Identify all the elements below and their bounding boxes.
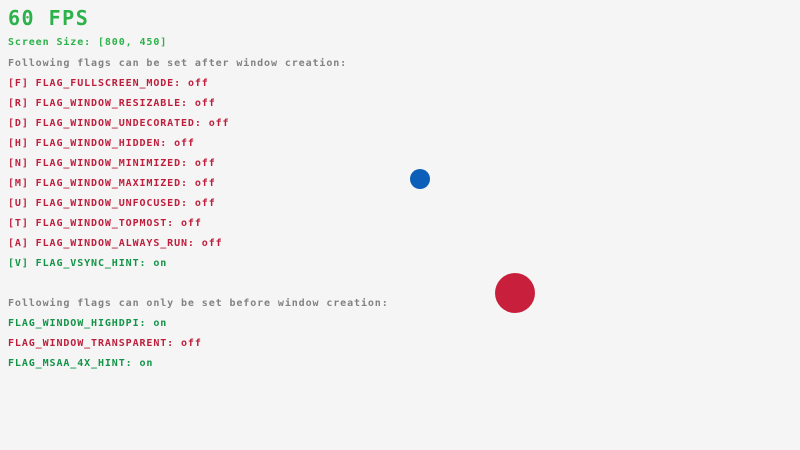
flag-label: [F] FLAG_FULLSCREEN_MODE: [8,78,188,89]
small-blue-ball [410,169,430,189]
flag-label: FLAG_WINDOW_TRANSPARENT: [8,338,181,349]
flag-state: off [202,238,223,249]
flag-label: [T] FLAG_WINDOW_TOPMOST: [8,218,181,229]
flag-state: off [195,198,216,209]
flag-label: FLAG_WINDOW_HIGHDPI: [8,318,153,329]
flag-label: [N] FLAG_WINDOW_MINIMIZED: [8,158,195,169]
flag-state: off [209,118,230,129]
flag-row[interactable]: [M] FLAG_WINDOW_MAXIMIZED: off [8,179,216,189]
flag-state: off [188,78,209,89]
flag-row[interactable]: [A] FLAG_WINDOW_ALWAYS_RUN: off [8,239,223,249]
flag-state: off [174,138,195,149]
creation-flags-header: Following flags can only be set before w… [8,299,389,309]
flag-row[interactable]: [T] FLAG_WINDOW_TOPMOST: off [8,219,202,229]
flag-label: [V] FLAG_VSYNC_HINT: [8,258,153,269]
flag-row[interactable]: FLAG_WINDOW_TRANSPARENT: off [8,339,202,349]
flag-row[interactable]: [R] FLAG_WINDOW_RESIZABLE: off [8,99,216,109]
flag-label: [D] FLAG_WINDOW_UNDECORATED: [8,118,209,129]
runtime-flags-header: Following flags can be set after window … [8,59,347,69]
fps-counter: 60 FPS [8,8,89,28]
flag-row[interactable]: [N] FLAG_WINDOW_MINIMIZED: off [8,159,216,169]
flag-row[interactable]: [V] FLAG_VSYNC_HINT: on [8,259,167,269]
flag-state: off [195,158,216,169]
flag-label: [M] FLAG_WINDOW_MAXIMIZED: [8,178,195,189]
large-red-ball [495,273,535,313]
flag-state: off [195,178,216,189]
flag-state: on [153,318,167,329]
flag-label: [U] FLAG_WINDOW_UNFOCUSED: [8,198,195,209]
flag-row[interactable]: [H] FLAG_WINDOW_HIDDEN: off [8,139,195,149]
flag-row[interactable]: FLAG_WINDOW_HIGHDPI: on [8,319,167,329]
flag-state: off [181,338,202,349]
flag-label: FLAG_MSAA_4X_HINT: [8,358,140,369]
flag-row[interactable]: FLAG_MSAA_4X_HINT: on [8,359,153,369]
flag-label: [R] FLAG_WINDOW_RESIZABLE: [8,98,195,109]
flag-label: [H] FLAG_WINDOW_HIDDEN: [8,138,174,149]
flag-state: on [140,358,154,369]
flag-row[interactable]: [D] FLAG_WINDOW_UNDECORATED: off [8,119,229,129]
flag-state: on [153,258,167,269]
screen-size-label: Screen Size: [800, 450] [8,38,167,48]
flag-row[interactable]: [U] FLAG_WINDOW_UNFOCUSED: off [8,199,216,209]
flag-state: off [195,98,216,109]
flag-row[interactable]: [F] FLAG_FULLSCREEN_MODE: off [8,79,209,89]
flag-state: off [181,218,202,229]
flag-label: [A] FLAG_WINDOW_ALWAYS_RUN: [8,238,202,249]
raylib-window-flags-demo: 60 FPS Screen Size: [800, 450] Following… [0,0,800,450]
